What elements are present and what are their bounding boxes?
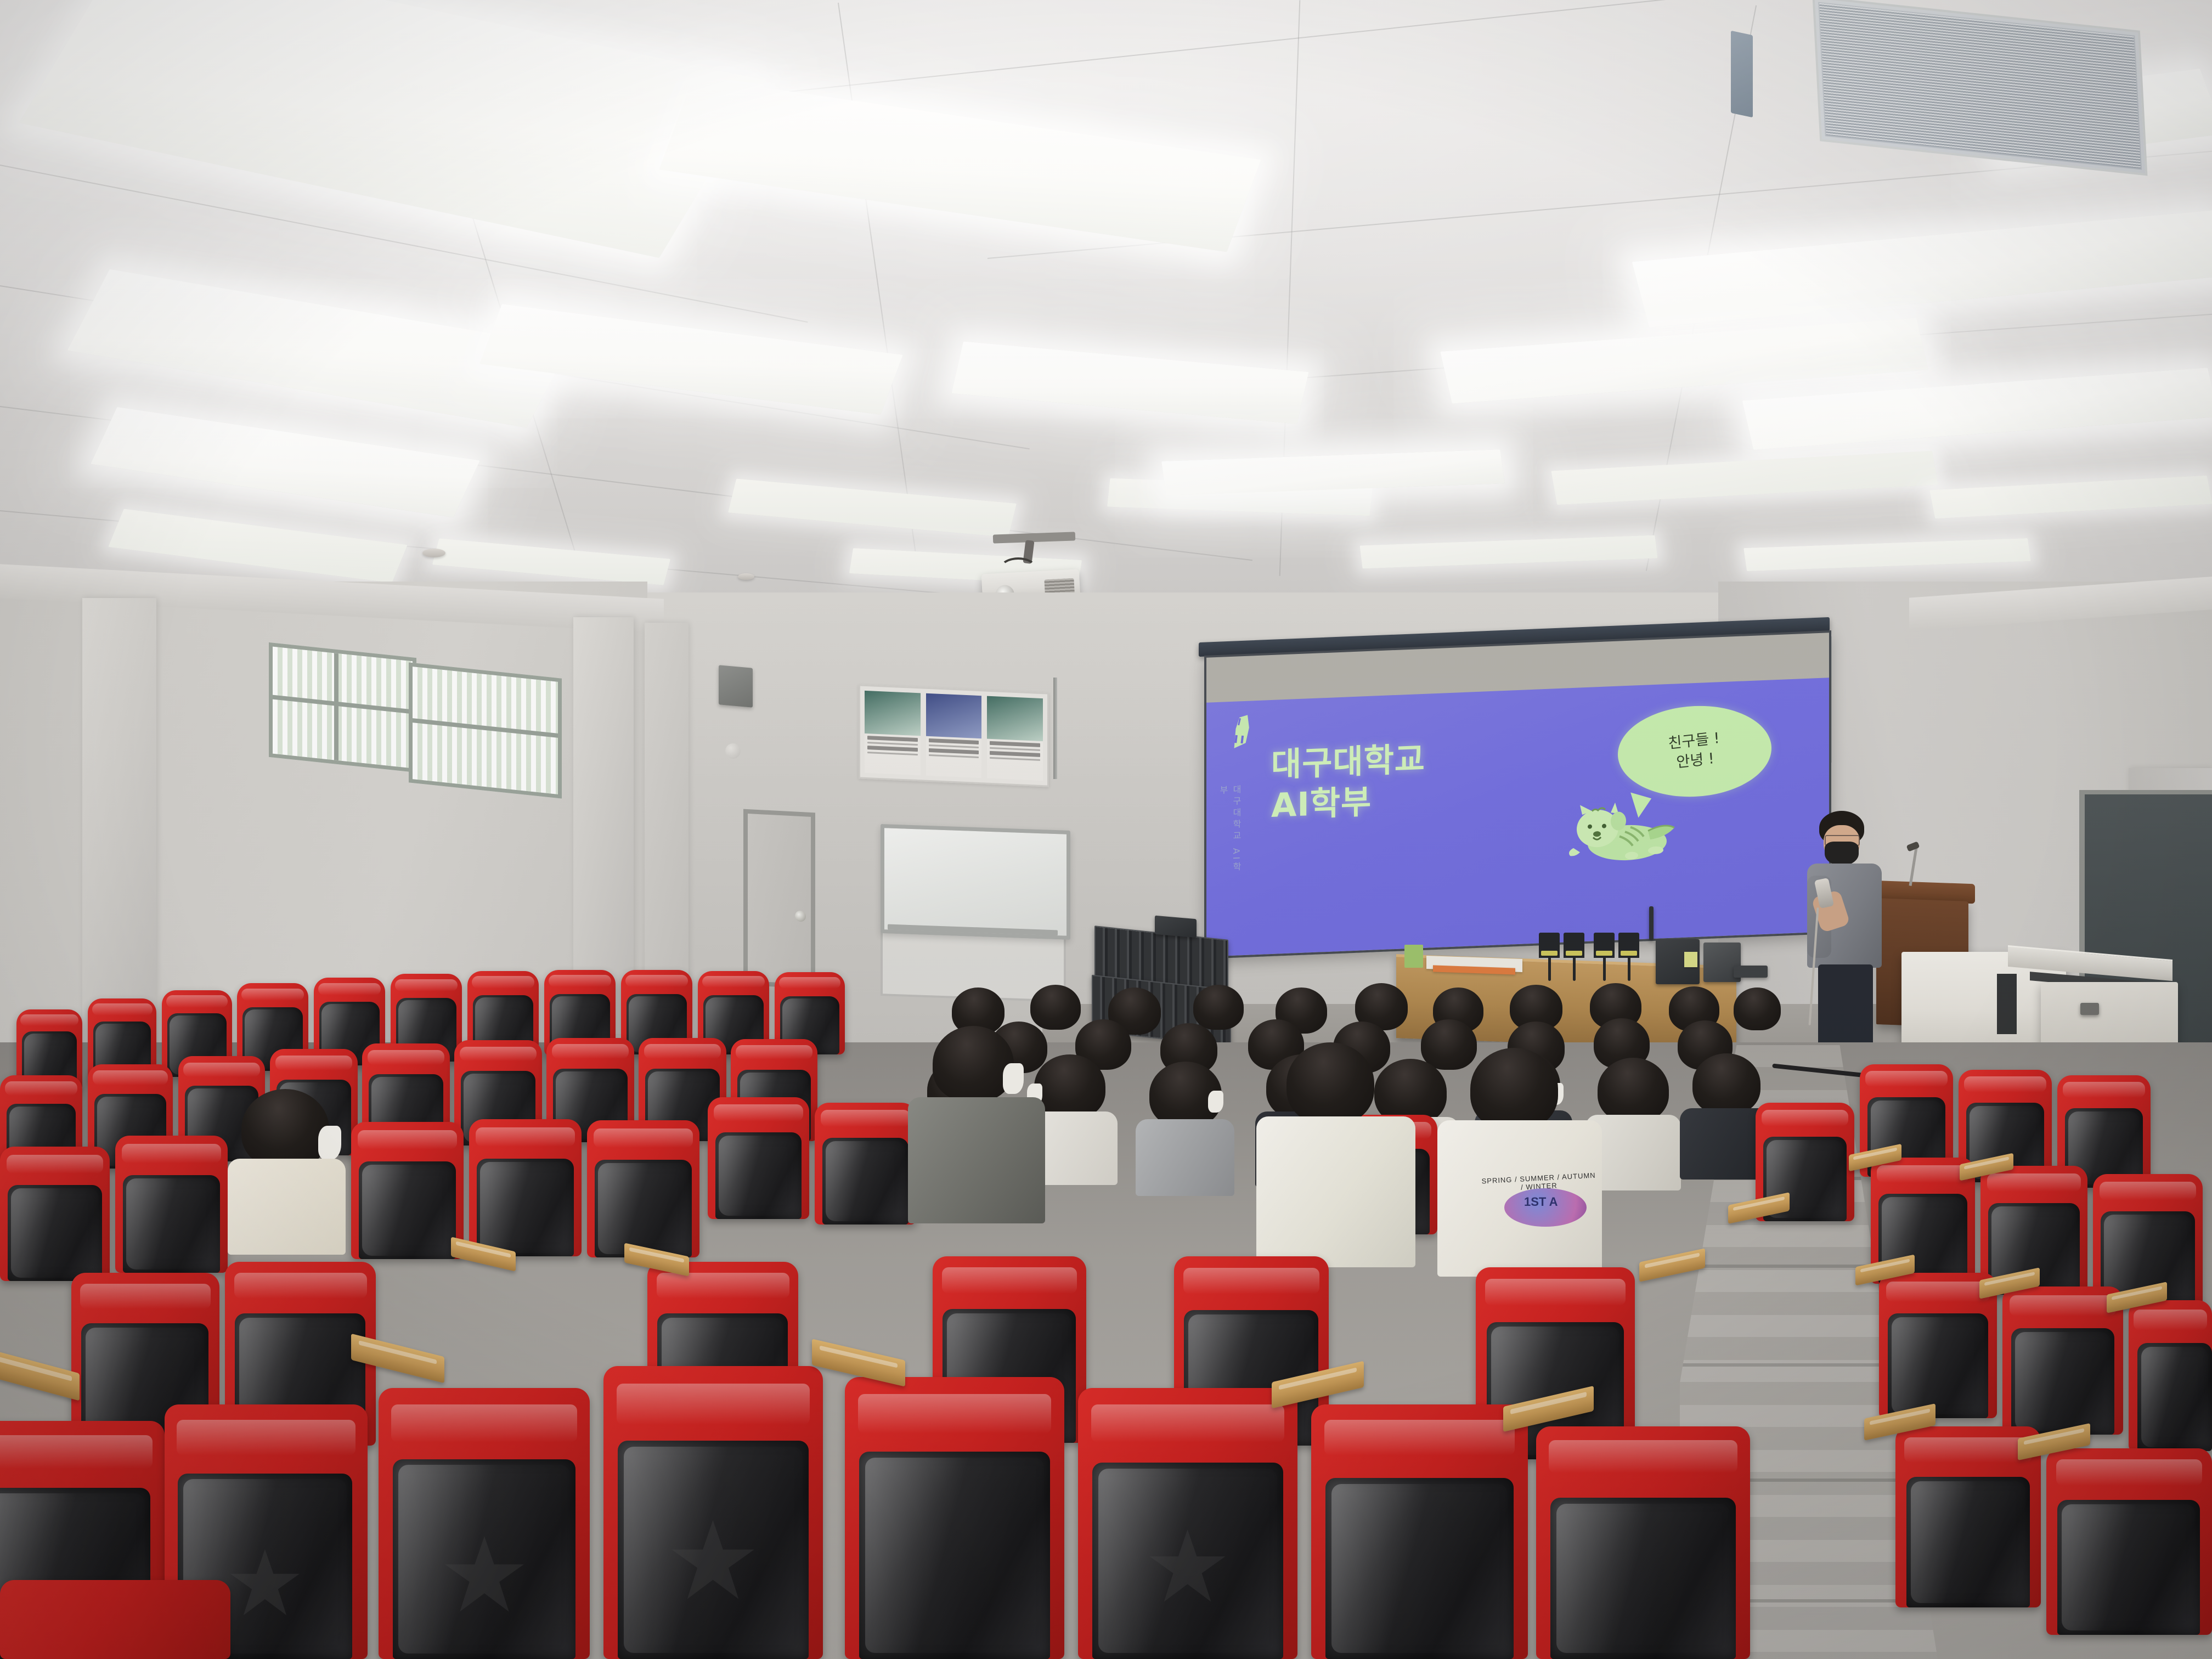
slide-side-text: 대구대학교 AI학부 — [1216, 785, 1243, 884]
seat-highlight — [858, 1394, 1051, 1434]
seat-gloss — [126, 1178, 217, 1269]
audience-head — [241, 1089, 329, 1169]
poster-image — [987, 696, 1043, 741]
seat-star-emblem-icon — [441, 1523, 528, 1627]
poster-heading-bar — [867, 736, 918, 742]
seat-highlight — [476, 1127, 574, 1147]
seat-highlight — [92, 1003, 153, 1015]
screen-pull-rod — [1053, 678, 1057, 779]
av-green-item — [1404, 945, 1423, 968]
seat-back-panel — [2057, 1500, 2200, 1635]
projector-cable — [1000, 557, 1037, 580]
seat[interactable] — [0, 1147, 110, 1281]
seat-highlight — [5, 1081, 77, 1096]
seat[interactable] — [708, 1097, 809, 1219]
presentation-slide: 대구대학교 AI학부 대구대학교 AI학부 친구들 ! 안녕 ! — [1206, 678, 1829, 957]
seat-highlight — [625, 975, 688, 987]
door-knob-icon[interactable] — [795, 910, 806, 922]
seat-back-panel — [393, 1459, 575, 1659]
tiger-mascot-icon — [1566, 782, 1681, 872]
seat-highlight — [80, 1284, 211, 1309]
seat-highlight — [395, 979, 458, 991]
audience-tshirt — [1256, 1116, 1415, 1267]
audience-head — [1286, 1042, 1374, 1125]
seat-highlight — [1485, 1279, 1625, 1306]
seat-highlight — [552, 1044, 629, 1059]
hair — [1598, 1058, 1669, 1122]
audience-head — [1470, 1048, 1558, 1130]
poster-image — [926, 693, 982, 738]
poster-text-line — [929, 744, 979, 748]
presenter-face-mask — [1825, 842, 1859, 866]
seat-back-panel — [859, 1452, 1050, 1659]
slide-ribbon-decoration — [1216, 699, 1277, 758]
window-mullion — [334, 653, 338, 760]
seat-gloss — [1892, 1317, 1984, 1414]
audience-shirt — [1136, 1119, 1234, 1196]
seat-highlight — [166, 995, 228, 1007]
poster-heading-bar — [867, 746, 918, 752]
front-left-door[interactable] — [743, 809, 815, 989]
seat-back-panel — [359, 1161, 456, 1259]
seat-highlight — [275, 1056, 353, 1070]
seat-back-panel — [1550, 1498, 1736, 1659]
seat[interactable] — [2046, 1448, 2212, 1635]
seat[interactable] — [0, 1580, 230, 1659]
av-clamp-leg — [1628, 958, 1630, 981]
window-left-lower — [409, 662, 562, 798]
audience-head — [933, 1026, 1014, 1102]
hair — [241, 1089, 329, 1169]
seat[interactable] — [1311, 1404, 1528, 1659]
av-clamp-leg — [1603, 958, 1606, 981]
audience-head — [1734, 988, 1781, 1030]
av-equipment-box — [1155, 916, 1197, 938]
seat-highlight — [594, 1128, 692, 1148]
poster — [987, 696, 1043, 781]
face-mask — [1208, 1091, 1223, 1113]
poster-text-line — [867, 742, 918, 746]
seat-cushion — [0, 1580, 230, 1659]
wall-sensor-icon — [725, 743, 741, 759]
tshirt-graphic-main-text: 1ST A — [1524, 1195, 1558, 1209]
seat-gloss — [1911, 1481, 2025, 1603]
seat[interactable] — [603, 1366, 823, 1659]
seat-highlight — [702, 976, 765, 988]
seat-gloss — [826, 1141, 905, 1221]
seat-back-panel — [2011, 1328, 2114, 1435]
seat-highlight — [736, 1045, 812, 1059]
seat-gloss — [480, 1162, 571, 1253]
seat-highlight — [714, 1104, 803, 1121]
seat-highlight — [1549, 1440, 1737, 1472]
seat-highlight — [7, 1155, 103, 1173]
seat-highlight — [472, 976, 534, 988]
seat[interactable] — [351, 1122, 464, 1259]
poster-text-line — [990, 757, 1040, 761]
seat-highlight — [391, 1404, 577, 1442]
seat-highlight — [1091, 1404, 1284, 1442]
seat-gloss — [2062, 1504, 2196, 1630]
seat-highlight — [122, 1144, 221, 1163]
audience-head — [1598, 1058, 1669, 1122]
seat-highlight — [460, 1047, 537, 1062]
seat-highlight — [1987, 1173, 2081, 1192]
seat-highlight — [1183, 1268, 1319, 1294]
poster — [865, 691, 921, 775]
av-clamp-light — [1564, 933, 1584, 958]
lecture-hall-scene: 대구대학교 AI학부 대구대학교 AI학부 친구들 ! 안녕 ! — [0, 0, 2212, 1659]
seat-highlight — [358, 1130, 456, 1149]
av-panel — [1734, 966, 1768, 978]
speech-bubble-text-wrap: 친구들 ! 안녕 ! — [1668, 729, 1722, 774]
seat-gloss — [1556, 1504, 1730, 1653]
av-sticky-note — [1684, 952, 1697, 967]
seat-highlight — [20, 1014, 78, 1026]
seat-highlight — [183, 1063, 259, 1077]
seat-highlight — [779, 977, 841, 989]
seat-star-emblem-icon — [667, 1506, 759, 1615]
seat-highlight — [0, 1435, 153, 1469]
audience-hoodie — [908, 1097, 1045, 1223]
hair — [1470, 1048, 1558, 1130]
audience-head — [1692, 1053, 1760, 1115]
seat-highlight — [1964, 1076, 2046, 1092]
window-left-upper — [269, 642, 416, 772]
seat[interactable] — [2002, 1286, 2123, 1435]
seat[interactable] — [469, 1119, 582, 1256]
face-mask — [1003, 1063, 1024, 1094]
poster-text-line — [929, 754, 979, 758]
seat-gloss — [362, 1165, 453, 1256]
seat-gloss — [865, 1458, 1044, 1653]
seat[interactable] — [1536, 1426, 1750, 1659]
seat-back-panel — [715, 1132, 802, 1219]
seat-gloss — [598, 1163, 689, 1254]
seat-highlight — [2134, 1310, 2207, 1331]
seat-star-emblem-icon — [1145, 1521, 1229, 1612]
ceiling — [0, 0, 2212, 647]
seat[interactable] — [1078, 1388, 1297, 1659]
hair — [1286, 1042, 1374, 1125]
seat-highlight — [234, 1273, 367, 1299]
seat-gloss — [2015, 1332, 2111, 1431]
seat-back-panel — [2137, 1343, 2212, 1451]
poster-heading-bar — [929, 738, 979, 744]
smoke-detector-icon — [422, 549, 445, 557]
seat-back-panel — [477, 1159, 574, 1256]
hair — [933, 1026, 1014, 1102]
seat[interactable] — [845, 1377, 1064, 1659]
counter-side-panel — [1997, 974, 2017, 1034]
wall-poster-frame — [859, 684, 1049, 787]
seat-gloss — [1331, 1484, 1508, 1653]
seat-gloss — [719, 1136, 798, 1216]
wall-speaker-icon — [719, 665, 753, 707]
slide-title-line2: AI학부 — [1271, 784, 1372, 825]
smoke-detector-icon — [738, 573, 754, 580]
seat-highlight — [1324, 1420, 1515, 1455]
hair — [1734, 988, 1781, 1030]
seat-gloss — [2141, 1347, 2208, 1447]
seat-highlight — [2100, 1182, 2196, 1200]
poster-image — [865, 691, 921, 736]
seat-highlight — [644, 1044, 721, 1058]
seat-back-panel — [8, 1185, 102, 1281]
seat[interactable] — [587, 1120, 699, 1257]
seat-highlight — [2056, 1459, 2202, 1486]
seat-back-panel — [1906, 1477, 2030, 1607]
poster-text-line — [990, 747, 1040, 751]
poster-text-lines — [865, 733, 921, 775]
seat-back-panel — [123, 1175, 220, 1273]
seat-highlight — [549, 975, 611, 987]
seat-highlight — [241, 989, 304, 1001]
seat-highlight — [821, 1110, 910, 1127]
seat-highlight — [942, 1267, 1077, 1294]
seat-back-panel — [822, 1138, 909, 1224]
seat-back-panel — [595, 1160, 692, 1257]
seat-gloss — [11, 1188, 99, 1278]
hair — [1692, 1053, 1760, 1115]
av-clamp-light — [1539, 933, 1560, 958]
seat[interactable] — [815, 1103, 916, 1224]
face-mask — [318, 1126, 341, 1160]
seat-highlight — [2010, 1295, 2116, 1316]
seat-highlight — [368, 1050, 445, 1065]
poster-heading-bar — [990, 741, 1040, 747]
seat-back-panel — [618, 1441, 809, 1659]
poster-heading-bar — [929, 748, 979, 754]
poster — [926, 693, 982, 778]
poster-text-lines — [987, 739, 1043, 781]
vertical-blinds — [413, 667, 558, 794]
poster-text-lines — [926, 736, 982, 778]
wall-pillar — [645, 623, 689, 1023]
seat-back-panel — [1325, 1478, 1514, 1659]
seat[interactable] — [115, 1136, 228, 1273]
seat-highlight — [93, 1070, 167, 1085]
av-clamp-light — [1618, 933, 1639, 958]
poster-heading-bar — [990, 751, 1040, 757]
seat-highlight — [1877, 1165, 1968, 1183]
ac-bracket — [1731, 31, 1753, 118]
audience-shirt — [228, 1159, 346, 1255]
seat-highlight — [1886, 1282, 1990, 1302]
seat-highlight — [1904, 1437, 2032, 1463]
whiteboard — [881, 824, 1070, 940]
counter-power-outlet-icon — [2080, 1003, 2099, 1015]
seat-highlight — [1865, 1071, 1948, 1087]
seat-highlight — [657, 1273, 789, 1299]
slide-title-line1: 대구대학교 — [1271, 741, 1425, 784]
av-clamp-light — [1594, 933, 1615, 958]
seat-highlight — [318, 983, 381, 995]
seat[interactable] — [379, 1388, 590, 1659]
seat-back-panel — [1888, 1313, 1988, 1418]
seat-star-emblem-icon — [227, 1537, 303, 1629]
av-clamp-leg — [1573, 958, 1576, 981]
av-clamp-leg — [1548, 958, 1551, 981]
seat[interactable] — [2129, 1300, 2212, 1451]
seat-highlight — [2063, 1082, 2145, 1098]
projection-screen: 대구대학교 AI학부 대구대학교 AI학부 친구들 ! 안녕 ! — [1204, 630, 1831, 959]
seat-back-panel — [1092, 1463, 1283, 1659]
seat-highlight — [1762, 1110, 1848, 1126]
seat-highlight — [177, 1420, 356, 1455]
poster-text-line — [867, 752, 918, 755]
seat-highlight — [617, 1384, 810, 1425]
av-antenna-icon — [1649, 906, 1654, 940]
